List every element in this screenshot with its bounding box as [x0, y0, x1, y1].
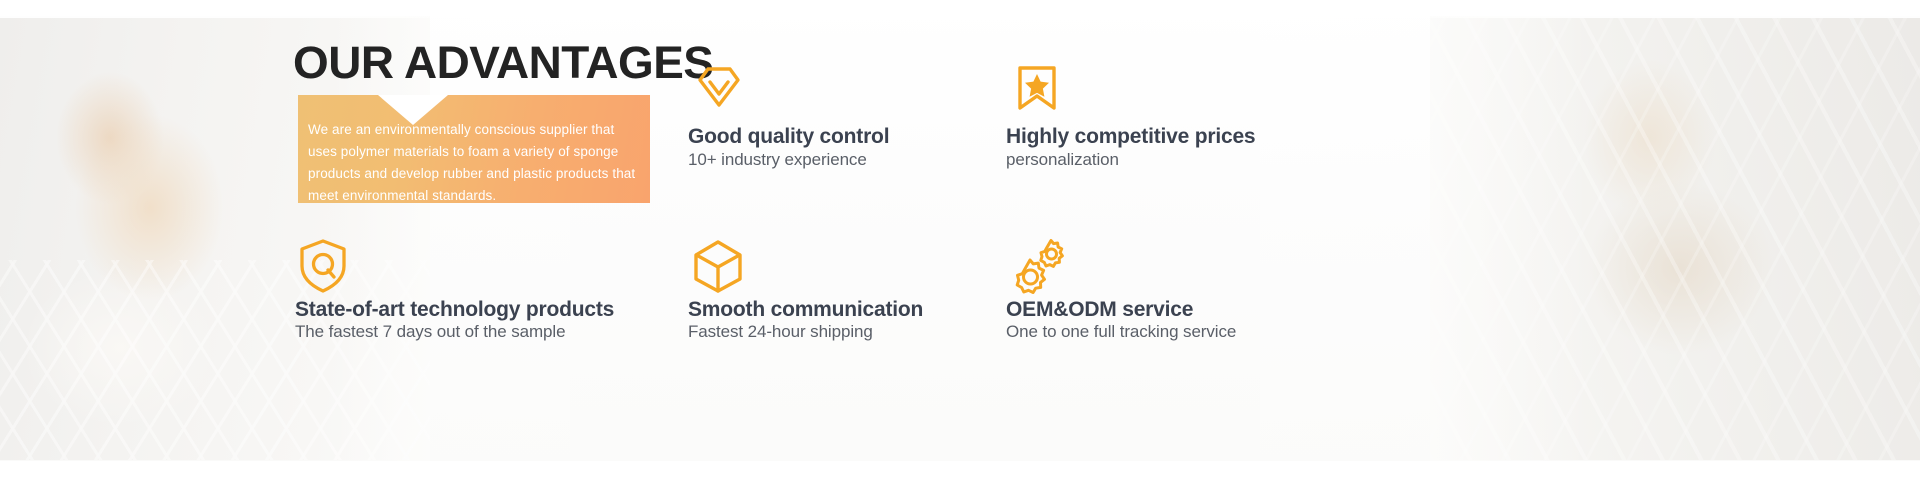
diamond-check-icon: [688, 60, 750, 127]
feature-subtitle: The fastest 7 days out of the sample: [295, 322, 565, 342]
feature-subtitle: 10+ industry experience: [688, 150, 867, 170]
feature-title: Highly competitive prices: [1006, 125, 1255, 149]
banner-content: OUR ADVANTAGES We are an environmentally…: [0, 0, 1920, 481]
cube-box-icon: [688, 236, 748, 301]
gears-icon: [1006, 236, 1070, 301]
advantages-banner: OUR ADVANTAGES We are an environmentally…: [0, 0, 1920, 481]
feature-subtitle: One to one full tracking service: [1006, 322, 1236, 342]
feature-grid: Good quality control 10+ industry experi…: [0, 0, 1920, 481]
feature-title: Smooth communication: [688, 298, 923, 322]
bookmark-star-icon: [1006, 60, 1068, 127]
shield-q-icon: [295, 236, 351, 301]
feature-title: State-of-art technology products: [295, 298, 614, 322]
feature-subtitle: personalization: [1006, 150, 1119, 170]
feature-subtitle: Fastest 24-hour shipping: [688, 322, 873, 342]
feature-title: OEM&ODM service: [1006, 298, 1193, 322]
feature-title: Good quality control: [688, 125, 889, 149]
